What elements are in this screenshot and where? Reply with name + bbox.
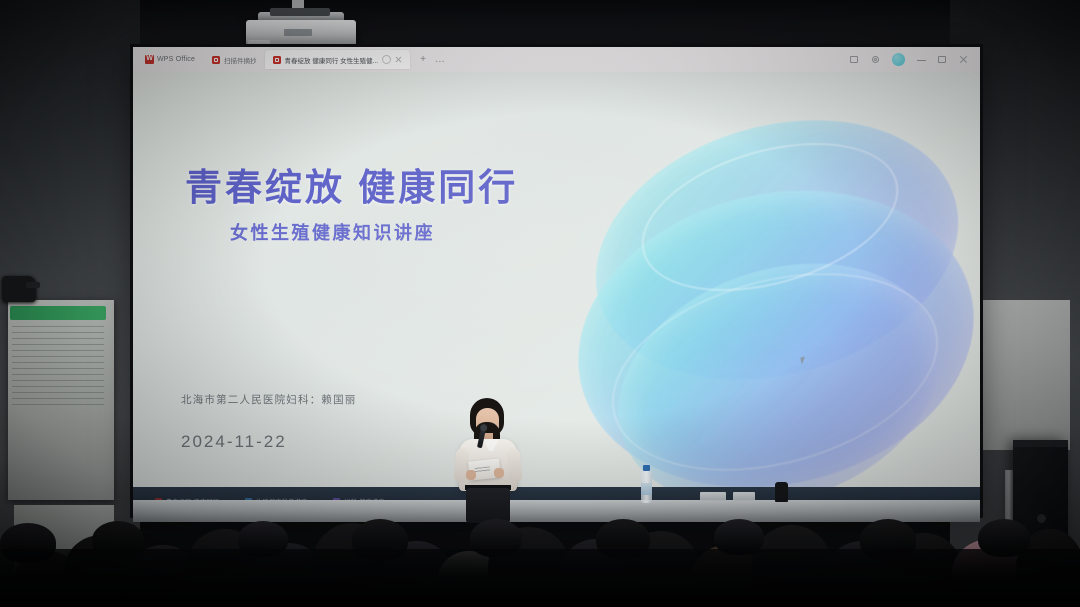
- projection-screen: WPS Office 扫描件摘抄 青春绽放 健康同行 女性生殖健... + …: [133, 47, 980, 515]
- bottle-cap: [643, 465, 650, 471]
- tab-scanned-doc[interactable]: 扫描件摘抄: [204, 50, 265, 69]
- microphone-base: [775, 482, 788, 502]
- lecture-hall-scene: WPS Office 扫描件摘抄 青春绽放 健康同行 女性生殖健... + …: [0, 0, 1080, 607]
- tab-label: 扫描件摘抄: [224, 55, 257, 65]
- ceiling-projector: [246, 20, 356, 46]
- notice-header-banner: [10, 306, 106, 320]
- tab-overflow-button[interactable]: …: [435, 54, 445, 65]
- security-camera-icon: [2, 276, 36, 302]
- slide-date: 2024-11-22: [181, 432, 287, 452]
- audience-head: [560, 539, 632, 607]
- speaker-stand: [1005, 470, 1013, 607]
- bottle-label: [641, 483, 652, 495]
- audience-head: [382, 541, 452, 607]
- audience-head: [186, 529, 264, 607]
- pa-speaker-driver: [1037, 514, 1046, 523]
- tab-presentation[interactable]: 青春绽放 健康同行 女性生殖健...: [265, 50, 411, 69]
- tab-label: 青春绽放 健康同行 女性生殖健...: [285, 55, 379, 65]
- tab-bar-actions[interactable]: + …: [410, 54, 455, 65]
- tab-close-icon[interactable]: [395, 56, 402, 63]
- audience-head: [692, 545, 762, 607]
- audience-foreground-mass: [0, 549, 1080, 607]
- audience-head: [238, 521, 288, 557]
- audience-head: [470, 519, 522, 557]
- pa-speaker: [1013, 440, 1068, 607]
- tab-status-dot-icon: [382, 55, 391, 64]
- wps-title-bar: WPS Office 扫描件摘抄 青春绽放 健康同行 女性生殖健... + …: [133, 47, 980, 72]
- avatar[interactable]: [892, 53, 905, 66]
- left-wall-lower-panel: [14, 505, 114, 607]
- desk-item: [700, 492, 726, 501]
- pdf-file-icon: [212, 56, 220, 64]
- slide-title: 青春绽放 健康同行: [185, 157, 518, 211]
- audience-head: [596, 519, 650, 559]
- audience-head: [352, 519, 408, 561]
- restore-layout-icon[interactable]: [850, 55, 859, 64]
- new-tab-button[interactable]: +: [420, 54, 426, 65]
- wall-notice-board: [8, 300, 114, 500]
- audience-head: [826, 541, 898, 607]
- ceiling: [0, 0, 1080, 52]
- close-icon[interactable]: [959, 55, 968, 64]
- audience-head: [252, 543, 324, 607]
- projector-arm-clamp: [270, 8, 330, 16]
- audience-head: [622, 531, 700, 607]
- speaker-skirt: [466, 488, 510, 523]
- audience-head: [714, 519, 764, 555]
- audience-head: [312, 523, 392, 607]
- wps-office-logo: WPS Office: [133, 55, 204, 64]
- minimize-icon[interactable]: [917, 55, 926, 64]
- abstract-gradient-orb-graphic: [568, 120, 980, 515]
- water-bottle: [641, 470, 652, 503]
- powerpoint-file-icon: [273, 56, 281, 64]
- slide-subtitle: 女性生殖健康知识讲座: [230, 219, 435, 245]
- notice-text-lines: [12, 326, 104, 406]
- audience-head: [488, 527, 570, 607]
- audience-head: [752, 525, 832, 607]
- window-controls: [850, 53, 980, 66]
- gear-icon[interactable]: [871, 55, 880, 64]
- presentation-slide: 青春绽放 健康同行 女性生殖健康知识讲座 北海市第二人民医院妇科：赖国丽 202…: [133, 72, 980, 515]
- speaker-hand-right: [494, 468, 504, 478]
- pa-speaker-top: [1013, 440, 1068, 447]
- desk-item: [733, 492, 755, 501]
- speaker-collar: [483, 439, 499, 451]
- speaker-at-podium: [452, 398, 526, 523]
- speaker-hand-left: [466, 470, 476, 480]
- wps-app-name: WPS Office: [157, 56, 195, 63]
- maximize-icon[interactable]: [938, 55, 947, 64]
- audience-head: [860, 519, 916, 561]
- speaker-arm-right: [506, 447, 522, 482]
- stage-ledge: [133, 500, 980, 522]
- slide-presenter-line: 北海市第二人民医院妇科：赖国丽: [181, 392, 357, 407]
- audience-head: [438, 551, 500, 607]
- projector-brand-label: [284, 29, 312, 36]
- wps-logo-icon: [145, 55, 154, 64]
